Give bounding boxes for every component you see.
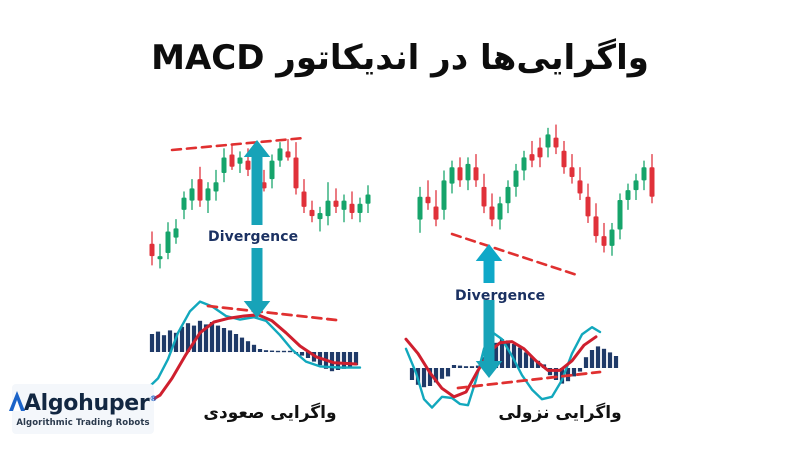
divergence-label-bullish: Divergence [208,229,298,245]
candle-body [610,230,615,246]
macd-histogram-bar [470,366,474,368]
macd-histogram-bar [150,334,154,352]
macd-histogram-bar [288,351,292,352]
price-trendline-dashed [172,138,304,150]
macd-histogram-bar [524,352,528,368]
candle-body [222,158,227,173]
macd-histogram-bar [300,352,304,356]
candle-body [586,197,591,217]
candle-body [174,228,179,237]
divergence-arrows [244,140,503,378]
candle-body [434,207,439,220]
macd-histogram-bar [264,350,268,352]
candle-body [490,207,495,220]
caption-bullish-divergence: واگرایی صعودی [170,403,370,423]
macd-histogram-bar [590,350,594,368]
logo-algohuper: Algohuper ® Algorithmic Trading Robots [12,384,154,434]
candle-body [358,204,363,213]
candle-body [554,138,559,148]
bearish-arrow-down-shaft [484,300,495,361]
macd-histogram-bar [234,334,238,352]
macd-histogram-bar [348,352,352,368]
macd-histogram-bar [464,366,468,368]
candle-body [506,187,511,203]
candle-body [206,188,211,200]
registered-mark: ® [149,395,157,403]
candle-body [426,197,431,204]
candle-body [334,201,339,207]
candle-body [270,161,275,179]
candle-body [522,157,527,170]
candle-body [246,161,251,170]
macd-histogram-bar [258,349,262,352]
candle-body [294,158,299,189]
macd-histogram-bar [446,368,450,376]
candle-body [618,200,623,230]
macd-histogram-bar [614,356,618,368]
bearish-arrow-up-shaft [484,261,495,283]
candle-body [214,182,219,191]
logo-name-text: Algohuper [24,393,150,415]
candle-body [442,180,447,210]
logo-tagline: Algorithmic Trading Robots [16,418,149,428]
macd-histogram-bar [458,366,462,368]
candle-body [158,256,163,259]
candle-body [318,213,323,219]
candle-body [570,167,575,177]
infographic-canvas: واگرایی‌ها در اندیکاتور MACD Divergence … [0,0,800,450]
candle-body [342,201,347,210]
macd-histogram-bar [596,346,600,368]
candle-body [190,188,195,200]
macd-histogram-bar [422,368,426,387]
triangle-logo-icon [9,391,25,411]
candle-body [238,158,243,164]
candle-body [286,151,291,157]
candle-body [562,151,567,167]
macd-histogram-bar [246,341,250,352]
divergence-label-bearish: Divergence [455,288,545,304]
bearish-arrow-up-head [476,244,503,261]
candle-body [302,191,307,206]
candle-body [498,203,503,219]
macd-histogram-bar [156,332,160,352]
macd-histogram-bar [162,335,166,352]
bearish-macd-chart [406,327,618,407]
candle-body [530,154,535,161]
macd-histogram-bar [608,352,612,368]
candle-body [474,167,479,180]
macd-histogram-bar [276,351,280,352]
candle-body [310,210,315,216]
macd-histogram-bar [584,357,588,368]
candle-body [626,190,631,200]
macd-histogram-bar [440,368,444,379]
candle-body [546,134,551,147]
macd-histogram-bar [518,348,522,368]
candle-body [458,167,463,180]
candle-body [326,201,331,216]
candle-body [538,148,543,158]
bullish-macd-chart [148,302,360,403]
candle-body [482,187,487,207]
logo-wordmark: Algohuper ® [9,390,157,415]
macd-histogram-bar [270,351,274,352]
bearish-price-chart [418,125,655,276]
bullish-arrow-down-shaft [252,248,263,301]
candle-body [230,154,235,166]
macd-histogram-bar [602,349,606,368]
candle-body [418,197,423,220]
candle-body [602,236,607,246]
candle-body [366,195,371,204]
candle-body [650,167,655,197]
caption-bearish-divergence: واگرایی نزولی [460,403,660,423]
price-trendline-dashed [452,234,580,276]
candle-body [634,180,639,190]
candle-body [594,216,599,236]
candle-body [350,204,355,213]
macd-histogram-bar [216,326,220,352]
candle-body [150,244,155,256]
candle-body [166,231,171,253]
macd-signal-line [148,315,356,403]
candle-body [514,170,519,186]
candle-body [450,167,455,183]
macd-histogram-bar [578,368,582,372]
bullish-arrow-up-shaft [252,157,263,225]
candle-body [642,167,647,180]
candle-body [278,148,283,160]
macd-histogram-bar [342,352,346,369]
macd-histogram-bar [452,365,456,368]
macd-histogram-bar [228,330,232,352]
candle-body [198,179,203,201]
macd-histogram-bar [222,328,226,352]
candle-body [578,180,583,193]
candle-body [182,198,187,210]
macd-histogram-bar [282,351,286,352]
page-title: واگرایی‌ها در اندیکاتور MACD [0,38,800,78]
macd-histogram-bar [240,338,244,352]
macd-histogram-bar [252,345,256,352]
candle-body [466,164,471,180]
